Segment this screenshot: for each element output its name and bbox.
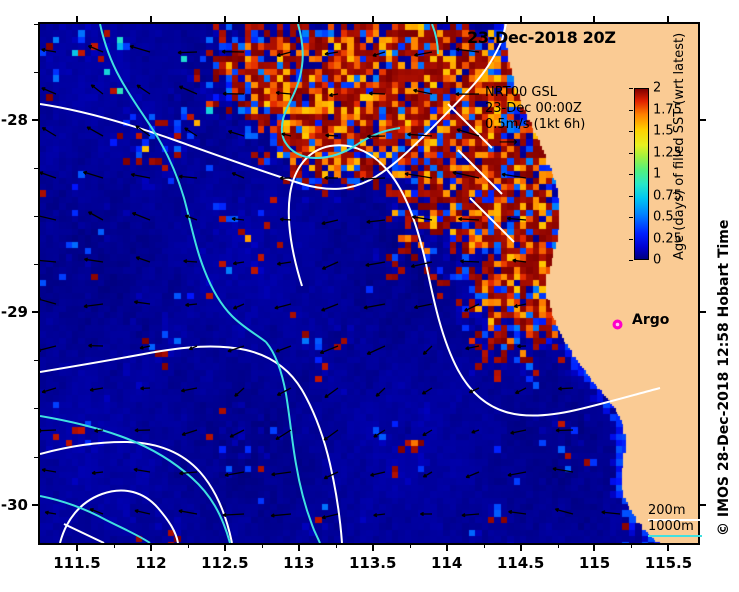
current-vector-arrow [412, 216, 432, 220]
x-axis-minor-tick [114, 544, 115, 548]
current-vector-arrow [414, 89, 433, 94]
x-axis-tick-top [667, 16, 669, 23]
current-vector-arrow [423, 346, 432, 354]
colorbar-tick [629, 260, 633, 261]
current-vector-arrow [276, 430, 291, 439]
current-vector-arrow [42, 469, 56, 472]
current-vector-arrow [137, 85, 150, 94]
current-vector-arrow [374, 514, 385, 517]
page-title: 23-Dec-2018 20Z [467, 28, 616, 47]
current-vector-arrow [325, 176, 339, 179]
x-axis-label: 113 [283, 554, 314, 572]
y-axis-tick-right [699, 119, 706, 121]
x-axis-tick-top [520, 16, 522, 23]
current-vector-arrow [325, 52, 338, 55]
y-axis-minor-tick [34, 216, 38, 217]
y-axis-minor-tick [34, 72, 38, 73]
current-vector-arrow [364, 304, 385, 309]
current-vector-arrow [462, 514, 479, 517]
current-vector-arrow [366, 262, 385, 266]
current-vector-arrow [88, 46, 103, 52]
current-vector-arrow [185, 128, 197, 136]
annotation-line-model: NRT00 GSL [485, 85, 585, 101]
bathy-contour-200m [60, 490, 178, 543]
x-axis-label: 112 [135, 554, 166, 572]
current-vector-arrow [42, 128, 56, 136]
x-axis-tick-top [76, 16, 78, 23]
y-axis-minor-tick [34, 264, 38, 265]
current-vector-arrow [460, 260, 479, 263]
current-vector-arrow [276, 346, 291, 352]
current-vector-arrow [453, 172, 479, 179]
x-axis-tick-top [593, 16, 595, 23]
colorbar-tick [629, 131, 633, 132]
x-axis-label: 113.5 [349, 554, 396, 572]
current-vector-arrow [329, 93, 338, 96]
current-vector-arrow [228, 131, 244, 136]
current-vector-arrow [507, 217, 526, 220]
current-vector-arrow [376, 388, 385, 396]
current-vector-arrow [325, 388, 338, 398]
x-axis-tick [667, 544, 669, 551]
current-vector-arrow [411, 262, 432, 267]
colorbar-tick-label: 1 [653, 167, 661, 182]
bathy-contour-200m [458, 150, 502, 194]
y-axis-minor-tick [34, 360, 38, 361]
y-axis-tick-right [699, 311, 706, 313]
colorbar-tick-label: 0 [653, 253, 661, 268]
x-axis-tick [298, 544, 300, 551]
current-vector-arrow [130, 46, 150, 53]
argo-marker-icon [612, 315, 623, 326]
current-vector-arrow [40, 346, 56, 351]
current-vector-arrow [322, 304, 339, 311]
y-axis-label: -28 [0, 111, 28, 129]
current-vector-arrow [141, 387, 151, 390]
y-axis-tick-right [699, 504, 706, 506]
colorbar-tick-label: 0.5 [653, 210, 674, 225]
x-axis-tick-top [298, 16, 300, 23]
current-vector-arrow [459, 218, 480, 221]
current-vector-arrow [602, 511, 620, 514]
current-vector-arrow [89, 344, 104, 347]
current-vector-arrow [405, 173, 432, 178]
bathy-200m-label: 200m [648, 503, 685, 518]
colorbar-tick [629, 110, 633, 111]
current-vector-arrow [179, 86, 197, 94]
current-vector-arrow [423, 472, 432, 477]
bathy-1000m-row: 1000m [648, 519, 694, 535]
x-axis-label: 115 [579, 554, 610, 572]
bathy-contour-1000m [432, 24, 438, 54]
current-vector-arrow [272, 472, 291, 476]
current-vector-arrow [84, 304, 103, 308]
current-vector-arrow [232, 173, 244, 178]
colorbar-tick-label: 1.5 [653, 124, 674, 139]
current-vector-arrow [140, 346, 150, 349]
x-axis-tick [372, 544, 374, 551]
bathy-contour-200m [64, 524, 104, 543]
current-vector-arrow [555, 509, 573, 514]
current-vector-arrow [232, 218, 244, 221]
current-vector-arrow [326, 134, 339, 137]
current-vector-arrow [517, 345, 526, 348]
bathy-contour-200m [40, 24, 506, 189]
current-vector-arrow [466, 346, 479, 350]
current-vector-arrow [556, 429, 573, 432]
current-vector-arrow [42, 49, 56, 53]
current-vector-arrow [87, 127, 103, 136]
x-axis-tick-top [446, 16, 448, 23]
current-vector-arrow [178, 51, 197, 54]
colorbar-tick [629, 196, 633, 197]
current-vector-arrow [89, 212, 104, 220]
x-axis-tick [150, 544, 152, 551]
x-axis-minor-tick [631, 544, 632, 548]
x-axis-label: 114.5 [497, 554, 544, 572]
map-plot-area[interactable] [38, 22, 700, 545]
colorbar-tick-label: 2 [653, 81, 661, 96]
current-vector-arrow [42, 88, 56, 94]
x-axis-minor-tick [484, 544, 485, 548]
current-vector-arrow [83, 172, 103, 179]
annotation-line-speed: 0.5m/s (1kt 6h) [485, 117, 585, 133]
copyright-text: © IMOS 28-Dec-2018 12:58 Hobart Time [716, 220, 732, 536]
current-vector-arrow [223, 513, 244, 516]
y-axis-label: -29 [0, 303, 28, 321]
current-vector-arrow [179, 175, 197, 178]
current-vector-arrow [420, 512, 432, 515]
current-vector-arrow [508, 472, 526, 476]
x-axis-label: 114 [431, 554, 462, 572]
current-vector-arrow [322, 262, 338, 269]
current-annotation: NRT00 GSL 23-Dec 00:00Z 0.5m/s (1kt 6h) … [485, 85, 585, 151]
current-vector-arrow [181, 388, 197, 392]
x-axis-tick-top [224, 16, 226, 23]
y-axis-minor-tick [34, 457, 38, 458]
current-vector-arrow [509, 511, 527, 515]
current-vector-arrow [369, 92, 385, 95]
imos-sst-age-map: 23-Dec-2018 20Z NRT00 GSL 23-Dec 00:00Z … [0, 0, 739, 592]
colorbar-axis-label: Age (days) of filled SST (wrt latest) [672, 88, 687, 260]
y-axis-minor-tick [34, 408, 38, 409]
x-axis-tick [76, 544, 78, 551]
current-vector-arrow [367, 220, 385, 223]
x-axis-tick [520, 544, 522, 551]
y-axis-minor-tick [34, 168, 38, 169]
current-vector-arrow [407, 133, 432, 136]
bathy-contour-200m [289, 145, 660, 415]
argo-legend-label: Argo [632, 312, 669, 328]
current-vector-arrow [91, 85, 103, 94]
current-vector-arrow [320, 346, 338, 353]
current-vector-arrow [414, 52, 432, 56]
current-vector-arrow [374, 430, 385, 437]
x-axis-minor-tick [410, 544, 411, 548]
argo-legend: Argo [612, 312, 669, 328]
bathy-contour-1000m [40, 496, 150, 543]
current-vector-arrow [40, 259, 56, 262]
current-vector-arrow [422, 388, 432, 394]
current-vector-arrow [223, 92, 244, 95]
current-vector-arrow [184, 260, 197, 263]
x-axis-tick-top [150, 16, 152, 23]
current-vector-arrow [135, 429, 150, 432]
bathy-1000m-label: 1000m [648, 519, 694, 534]
bathy-contour-1000m [282, 24, 358, 158]
x-axis-label: 112.5 [201, 554, 248, 572]
colorbar-tick [629, 174, 633, 175]
current-vector-arrow [423, 430, 432, 436]
current-vector-arrow [233, 262, 244, 265]
current-vector-arrow [90, 388, 103, 391]
current-vector-arrow [514, 304, 526, 308]
current-vector-arrow [277, 52, 291, 56]
current-vector-arrow [134, 468, 150, 472]
current-vector-arrow [472, 430, 479, 433]
current-vector-arrow [371, 472, 386, 476]
current-vector-arrow [558, 387, 573, 390]
map-overlay [40, 24, 698, 543]
current-vector-arrow [233, 304, 244, 309]
current-vector-arrow [225, 472, 244, 476]
current-vector-arrow [235, 388, 244, 396]
y-axis-tick [32, 119, 39, 121]
x-axis-tick-top [372, 16, 374, 23]
current-arrow-icon: ⟶ [499, 135, 585, 151]
y-axis-minor-tick [34, 24, 38, 25]
current-vector-arrow [275, 304, 291, 309]
bathy-contour-1000m [100, 24, 266, 342]
current-vector-arrow [511, 430, 526, 434]
bathy-contour-1000m [40, 416, 230, 543]
colorbar-tick [629, 88, 633, 89]
y-axis-tick [32, 504, 39, 506]
annotation-line-time: 23-Dec 00:00Z [485, 101, 585, 117]
current-vector-arrow [185, 215, 197, 220]
bathy-200m-row: 200m [648, 503, 694, 519]
current-vector-arrow [277, 262, 291, 265]
current-vector-arrow [513, 259, 526, 262]
colorbar-tick [629, 217, 633, 218]
colorbar-tick [629, 239, 633, 240]
current-vector-arrow [182, 430, 197, 435]
current-vector-arrow [516, 388, 527, 393]
current-vector-arrow [367, 346, 385, 354]
current-vector-arrow [186, 303, 198, 306]
current-vector-arrow [282, 133, 291, 136]
x-axis-minor-tick [336, 544, 337, 548]
bathymetry-legend: 200m 1000m [648, 503, 694, 535]
current-vector-arrow [45, 511, 56, 514]
x-axis-minor-tick [188, 544, 189, 548]
x-axis-label: 111.5 [53, 554, 100, 572]
current-vector-arrow [40, 172, 56, 178]
current-vector-arrow [92, 471, 103, 474]
current-vector-arrow [322, 220, 338, 225]
current-vector-arrow [84, 258, 103, 262]
current-vector-arrow [134, 301, 150, 304]
current-vector-arrow [179, 510, 197, 514]
current-vector-arrow [553, 468, 573, 472]
y-axis-label: -30 [0, 496, 28, 514]
current-vector-arrow [136, 257, 150, 262]
current-vector-arrow [322, 514, 338, 519]
current-vector-arrow [373, 52, 385, 56]
current-vector-arrow [40, 298, 56, 304]
bathy-contour-1000m [266, 342, 320, 543]
x-axis-minor-tick [558, 544, 559, 548]
current-vector-arrow [40, 215, 56, 220]
current-vector-arrow [135, 510, 150, 514]
current-vector-arrow [132, 213, 150, 220]
current-vector-arrow [40, 429, 56, 432]
x-axis-minor-tick [262, 544, 263, 548]
current-vector-arrow [271, 514, 291, 517]
bathy-1000m-line [648, 535, 702, 537]
x-axis-tick [446, 544, 448, 551]
current-vector-arrow [324, 430, 338, 440]
current-vector-arrow [42, 388, 56, 393]
current-vector-arrow [414, 304, 432, 309]
colorbar-gradient [634, 88, 649, 260]
x-axis-label: 115.5 [645, 554, 692, 572]
current-vector-arrow [466, 472, 479, 478]
y-axis-tick [32, 311, 39, 313]
colorbar-tick [629, 153, 633, 154]
current-vector-arrow [131, 174, 150, 179]
x-axis-tick [593, 544, 595, 551]
current-vector-arrow [456, 48, 479, 52]
x-axis-tick [224, 544, 226, 551]
current-vector-arrow [230, 430, 244, 437]
current-vector-arrow [465, 304, 479, 311]
current-vector-arrow [502, 173, 526, 178]
current-vector-arrow [276, 91, 291, 94]
current-vector-arrow [222, 50, 244, 53]
